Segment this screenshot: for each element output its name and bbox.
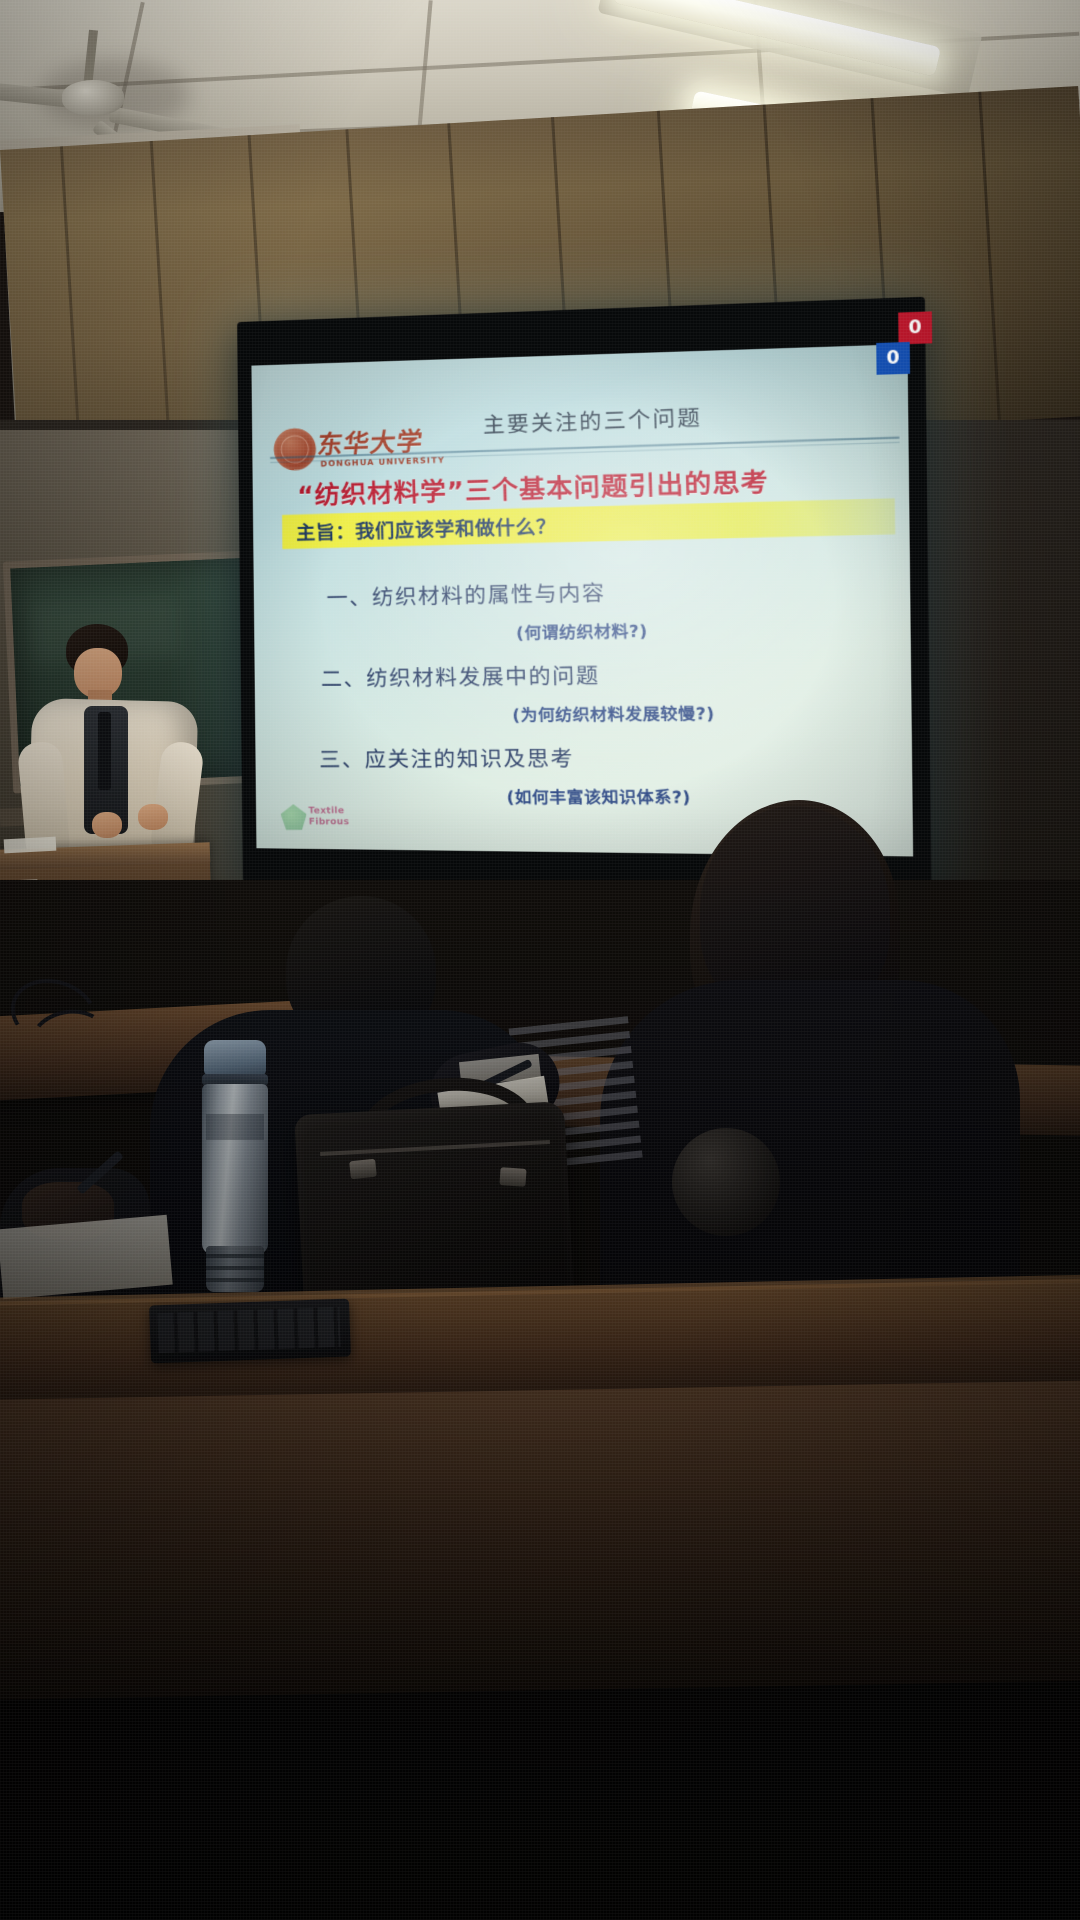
podium-paper [4, 837, 57, 854]
lecturer-left-hand [92, 812, 122, 838]
slide-header: 主要关注的三个问题 [482, 401, 702, 440]
handbag-buckle [499, 1167, 526, 1187]
osd-badge-red: 0 [898, 311, 932, 344]
note-paper [0, 1215, 173, 1300]
slide-item-2-sub: (为何纺织材料发展较慢?) [512, 700, 715, 727]
slide-item-3-main: 三、应关注的知识及思考 [319, 742, 575, 774]
watermark-line-1: Textile [308, 806, 344, 816]
watermark-line-2: Fibrous [309, 817, 350, 827]
lecturer-right-hand [138, 804, 168, 830]
slide-item-1-sub: (何谓纺织材料?) [516, 617, 648, 644]
handbag-buckle [349, 1159, 377, 1180]
leaf-icon [280, 804, 307, 830]
dark-round-object [672, 1128, 780, 1236]
lecture-hall-photo: 东华大学 DONGHUA UNIVERSITY 主要关注的三个问题 “纺织材料学… [0, 0, 1080, 1920]
thermos-label [206, 1114, 264, 1140]
slide-item-2-main: 二、纺织材料发展中的问题 [320, 659, 600, 693]
desk-row-foreground [0, 1380, 1080, 1701]
thermos-body [202, 1084, 268, 1254]
osd-badge-blue: 0 [876, 342, 910, 375]
lab-watermark: Textile Fibrous [280, 804, 402, 845]
projection-screen: 东华大学 DONGHUA UNIVERSITY 主要关注的三个问题 “纺织材料学… [237, 297, 931, 893]
thermos-bottle [200, 1040, 270, 1290]
ceiling-fan-motor [62, 80, 124, 116]
thermos-cap [204, 1040, 266, 1076]
lecturer-tie [98, 712, 111, 790]
slide-item-3-sub: (如何丰富该知识体系?) [506, 783, 691, 808]
projected-slide: 东华大学 DONGHUA UNIVERSITY 主要关注的三个问题 “纺织材料学… [251, 344, 913, 856]
slide-item-1-main: 一、纺织材料的属性与内容 [326, 576, 606, 612]
slide-content: 东华大学 DONGHUA UNIVERSITY 主要关注的三个问题 “纺织材料学… [251, 344, 913, 851]
university-seal-icon [273, 427, 316, 471]
keyboard-keys [157, 1307, 340, 1353]
